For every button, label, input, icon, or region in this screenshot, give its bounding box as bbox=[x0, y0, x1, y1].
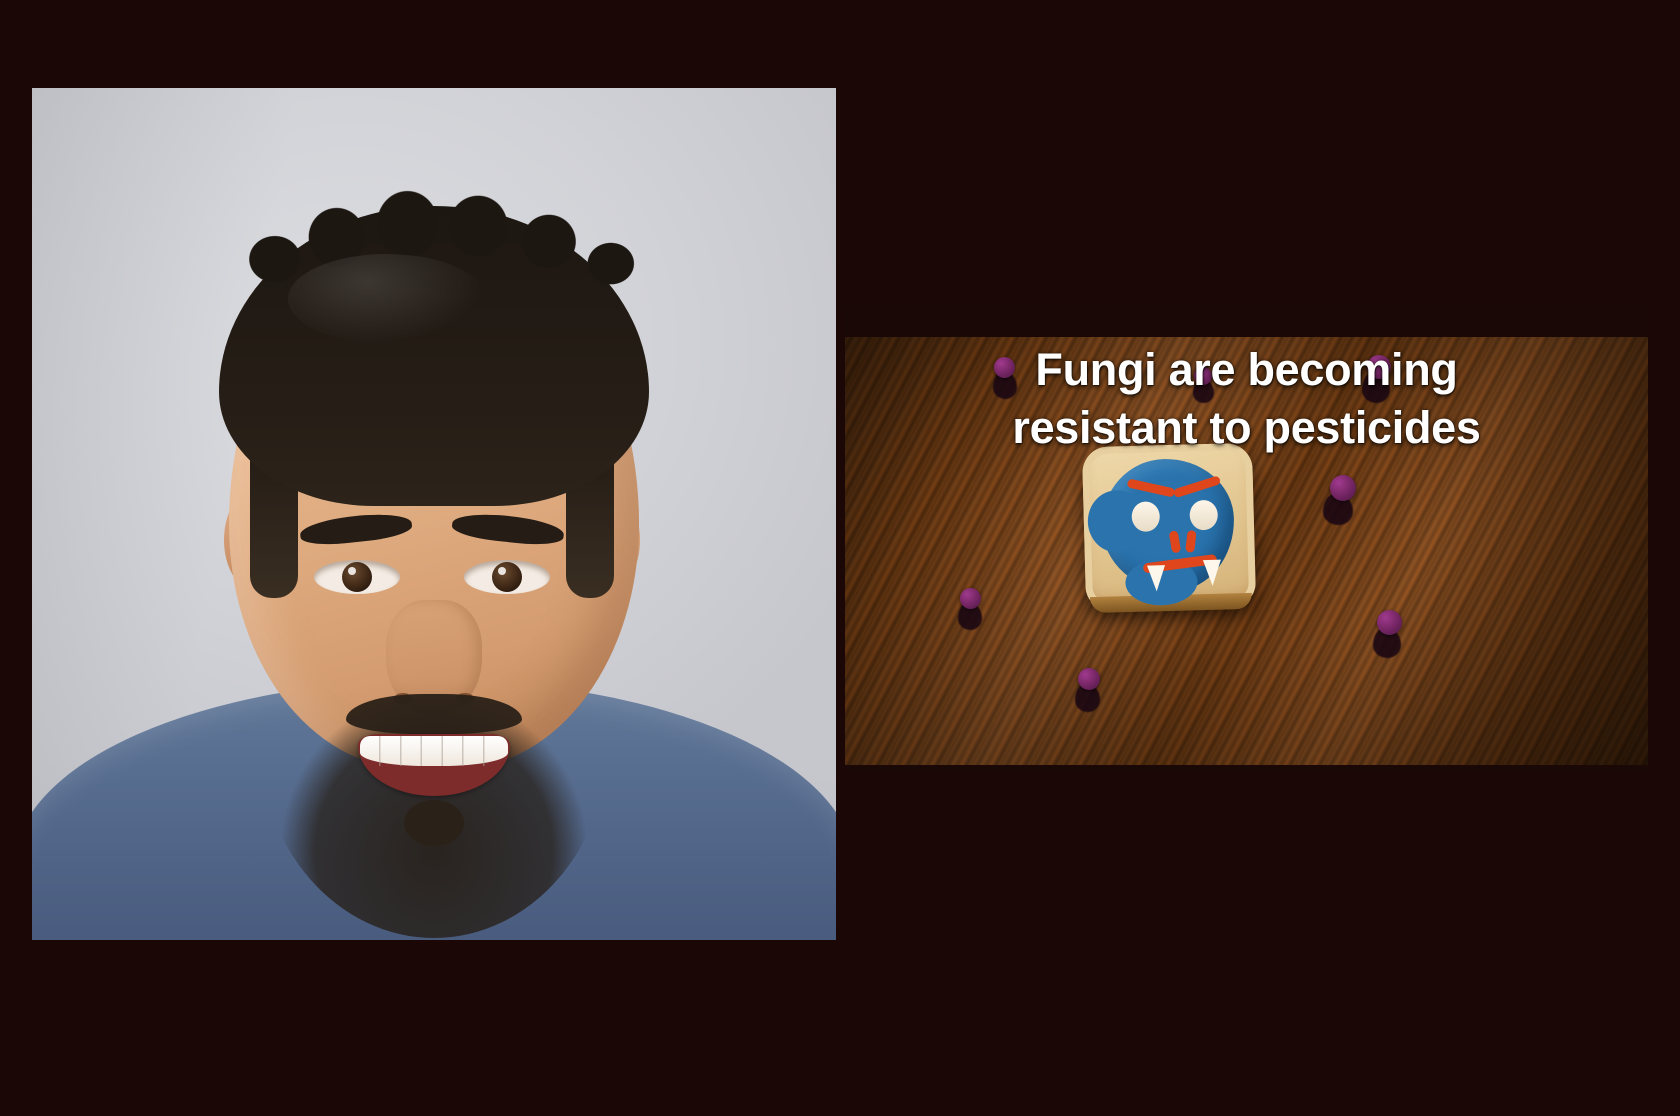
push-pin-5 bbox=[956, 588, 986, 630]
push-pin-head bbox=[1367, 355, 1391, 379]
letterbox-bottom-bar bbox=[845, 765, 1648, 773]
iris-left bbox=[342, 562, 372, 592]
toast-slice bbox=[1082, 443, 1256, 609]
hair bbox=[219, 206, 649, 506]
letterbox-top-bar bbox=[845, 305, 1648, 337]
chin-patch bbox=[404, 800, 464, 846]
push-pin-head bbox=[1330, 475, 1356, 501]
teeth bbox=[360, 736, 508, 766]
presentation-stage: Fungi are becoming resistant to pesticid… bbox=[0, 0, 1680, 1116]
moustache bbox=[346, 694, 522, 734]
push-pin-6 bbox=[1074, 668, 1104, 712]
mold-nostril-right bbox=[1185, 530, 1196, 553]
mold-nostril-left bbox=[1169, 530, 1182, 553]
shared-video-slide[interactable]: Fungi are becoming resistant to pesticid… bbox=[845, 305, 1648, 773]
mold-eyebrow-left bbox=[1127, 478, 1176, 497]
mold-eye-left bbox=[1131, 501, 1160, 532]
mold-eye-right bbox=[1189, 500, 1218, 531]
push-pin-head bbox=[994, 357, 1015, 378]
speaker-camera-tile[interactable] bbox=[32, 88, 836, 940]
push-pin-head bbox=[1078, 668, 1100, 690]
push-pin-1 bbox=[991, 357, 1021, 399]
push-pin-3 bbox=[1361, 355, 1397, 403]
mold-fang-right bbox=[1203, 560, 1222, 586]
push-pin-4 bbox=[1323, 475, 1359, 525]
speaker-portrait bbox=[32, 88, 836, 940]
mold-eyebrow-right bbox=[1173, 475, 1221, 498]
push-pin-head bbox=[960, 588, 981, 609]
eye-left bbox=[314, 560, 400, 594]
mold-monster bbox=[1100, 457, 1235, 592]
push-pin-head bbox=[1377, 610, 1402, 635]
mold-fang-left bbox=[1147, 565, 1166, 591]
iris-right bbox=[492, 562, 522, 592]
push-pin-head bbox=[1194, 367, 1212, 385]
push-pin-2 bbox=[1192, 367, 1218, 403]
push-pin-7 bbox=[1372, 610, 1406, 658]
eye-right bbox=[464, 560, 550, 594]
